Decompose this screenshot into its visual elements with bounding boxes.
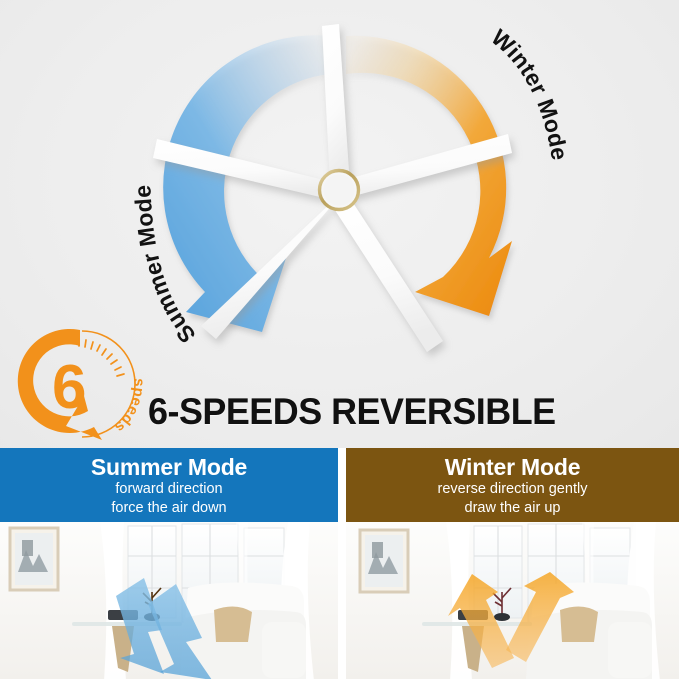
winter-mode-subtitle-line2: draw the air up <box>465 500 561 517</box>
summer-mode-panel: Summer Mode forward direction force the … <box>0 448 338 679</box>
wall-art <box>360 530 408 592</box>
winter-room-photo <box>346 522 679 679</box>
summer-room-photo <box>0 522 338 679</box>
winter-mode-panel: Winter Mode reverse direction gently dra… <box>346 448 679 679</box>
fan-hub <box>318 169 360 211</box>
hero-section: Summer Mode Winter Mode <box>0 0 679 448</box>
summer-mode-band: Summer Mode forward direction force the … <box>0 448 338 522</box>
mode-comparison-panels: Summer Mode forward direction force the … <box>0 448 679 679</box>
winter-mode-band: Winter Mode reverse direction gently dra… <box>346 448 679 522</box>
winter-mode-title: Winter Mode <box>445 455 581 479</box>
summer-mode-title: Summer Mode <box>91 455 247 479</box>
panel-divider <box>338 448 346 679</box>
page-title: 6-SPEEDS REVERSIBLE <box>148 390 604 434</box>
six-speed-badge: 6 speeds <box>22 322 146 444</box>
infographic-page: Summer Mode Winter Mode <box>0 0 679 679</box>
badge-number: 6 <box>52 353 86 422</box>
badge-word: speeds <box>111 378 148 436</box>
summer-mode-subtitle-line2: force the air down <box>111 500 226 517</box>
summer-mode-subtitle-line1: forward direction <box>115 481 222 498</box>
wall-art <box>10 528 58 590</box>
winter-mode-subtitle-line1: reverse direction gently <box>438 481 588 498</box>
